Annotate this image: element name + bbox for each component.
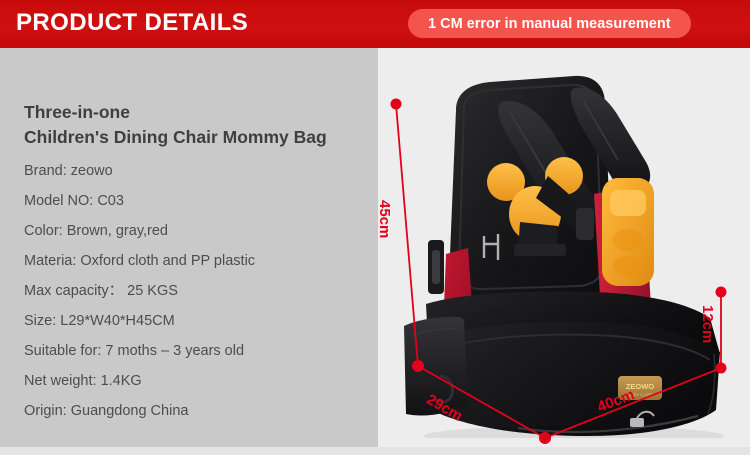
spec-color: Color: Brown, gray,red [24,216,364,246]
bag-body [428,322,720,436]
dimension-label-height: 45cm [376,200,393,238]
spec-size: Size: L29*W40*H45CM [24,306,364,336]
spec-brand: Brand: zeowo [24,156,364,186]
product-info-list: Three-in-one Children's Dining Chair Mom… [24,100,364,426]
product-title-line-1: Three-in-one [24,100,364,125]
spec-suitable-for: Suitable for: 7 moths – 3 years old [24,336,364,366]
spec-origin: Origin: Guangdong China [24,396,364,426]
product-details-page: PRODUCT DETAILS 1 CM error in manual mea… [0,0,750,455]
chair-orange-buckle [602,178,654,286]
spec-model: Model NO: C03 [24,186,364,216]
product-photo: ZEOWO BABY CARE [398,58,738,438]
header-bar: PRODUCT DETAILS 1 CM error in manual mea… [0,0,750,48]
spec-max-capacity: Max capacity： 25 KGS [24,276,364,306]
product-shadow [424,426,724,438]
spec-material: Materia: Oxford cloth and PP plastic [24,246,364,276]
spec-net-weight: Net weight: 1.4KG [24,366,364,396]
footer-strip [0,447,750,455]
product-title-line-2: Children's Dining Chair Mommy Bag [24,125,364,150]
measurement-note-label: 1 CM error in manual measurement [428,16,671,32]
measurement-note-badge: 1 CM error in manual measurement [408,9,691,38]
product-info-panel: Three-in-one Children's Dining Chair Mom… [0,48,378,455]
dimension-label-base-height: 12cm [699,305,716,343]
page-title: PRODUCT DETAILS [16,9,248,37]
